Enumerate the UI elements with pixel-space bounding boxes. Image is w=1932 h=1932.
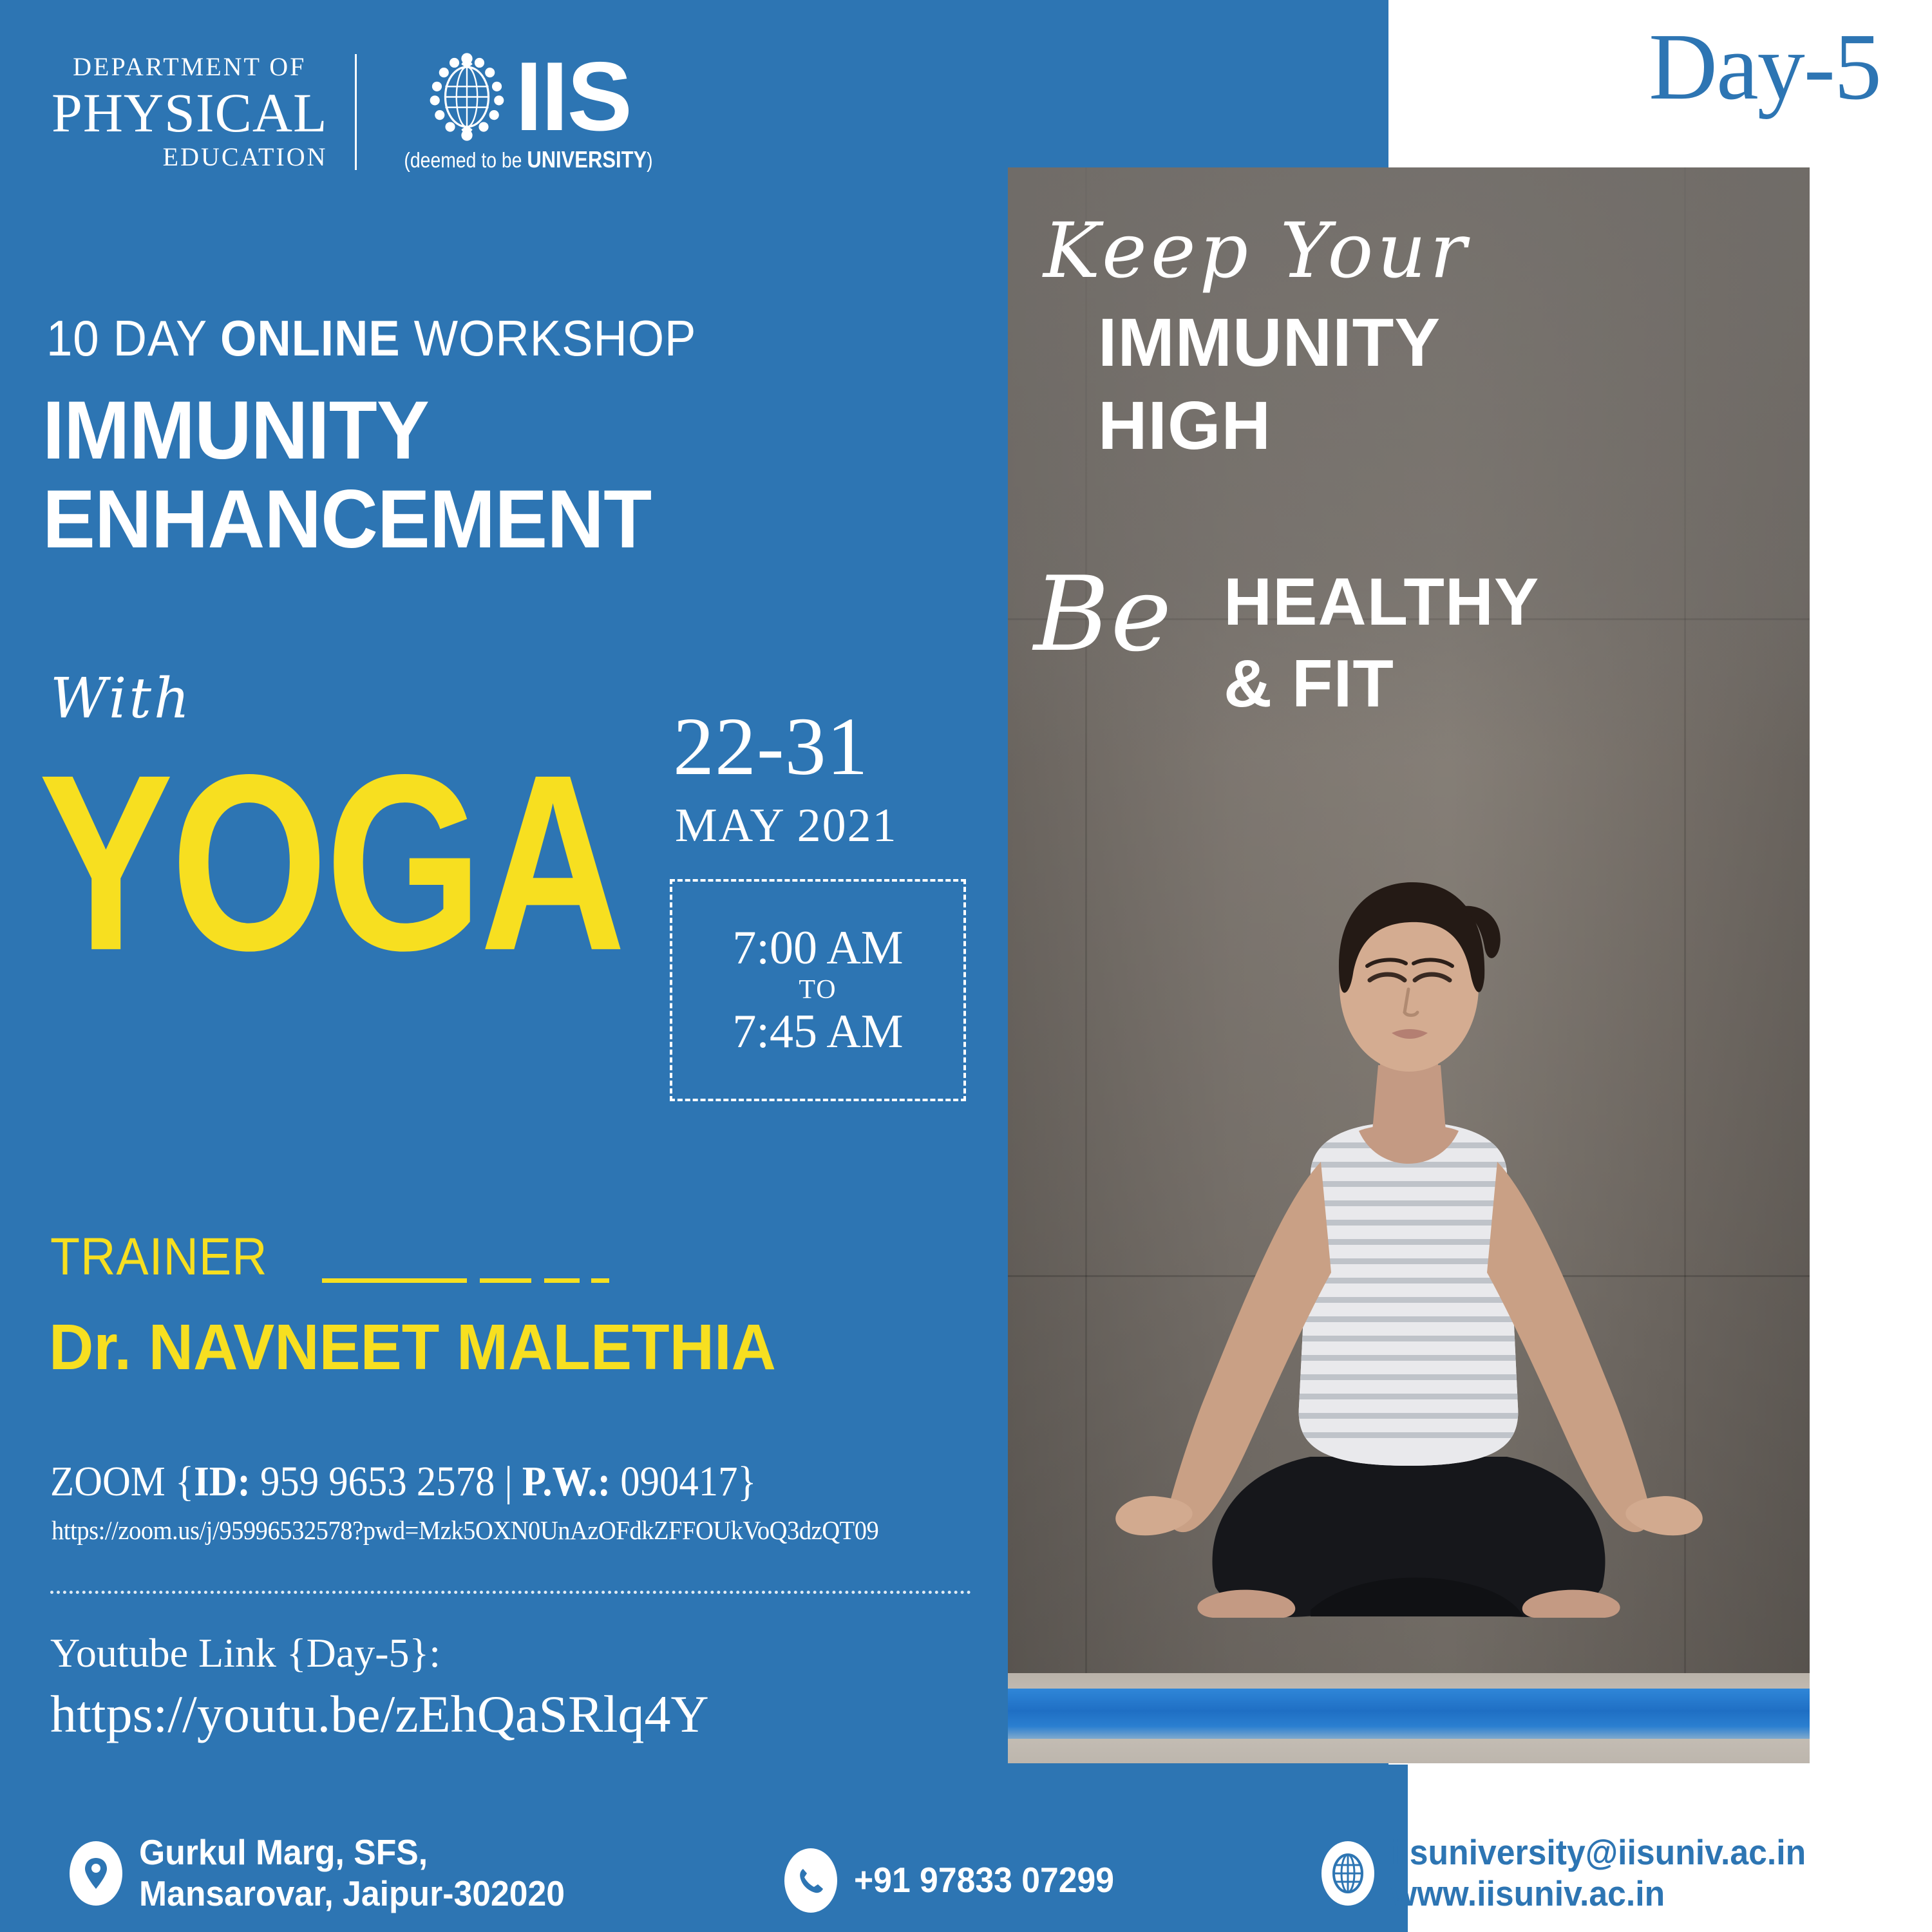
department-line-top: DEPARTMENT OF [52, 54, 328, 80]
iis-sub-university: UNIVERSITY [527, 146, 647, 173]
iis-sub-suffix: ) [647, 148, 652, 172]
overlay-healthy: HEALTHY [1224, 562, 1539, 643]
phone-handset-glyph [796, 1866, 826, 1895]
youtube-label: Youtube Link {Day-5}: [50, 1629, 440, 1677]
trainer-label: TRAINER [50, 1227, 268, 1287]
meditating-woman-figure [1008, 840, 1810, 1696]
trainer-rule-segment [480, 1278, 531, 1283]
globe-icon [1321, 1841, 1374, 1906]
email-text[interactable]: iisuniversity@iisuniv.ac.in [1391, 1832, 1806, 1873]
trainer-name: Dr. NAVNEET MALETHIA [49, 1311, 776, 1385]
location-pin-icon [70, 1841, 122, 1906]
iis-university-logo: IIS (deemed to be UNIVERSITY) [384, 50, 673, 173]
contact-phone: +91 97833 07299 [784, 1848, 1131, 1913]
overlay-high: HIGH [1098, 384, 1441, 468]
section-divider [50, 1591, 971, 1594]
institution-logo: DEPARTMENT OF PHYSICAL EDUCATION [52, 50, 673, 173]
zoom-credentials: ZOOM {ID: 959 9653 2578 | P.W.: 090417} [50, 1457, 757, 1506]
address-line-2: Mansarovar, Jaipur-302020 [139, 1873, 565, 1915]
phone-icon [784, 1848, 837, 1913]
phone-text: +91 97833 07299 [854, 1860, 1114, 1901]
overlay-keep-your: Keep Your [1043, 206, 1470, 295]
page-title: IMMUNITY ENHANCEMENT [43, 386, 651, 564]
globe-glyph [1331, 1853, 1365, 1894]
department-line-bottom: EDUCATION [52, 144, 328, 170]
time-box: 7:00 AM TO 7:45 AM [670, 879, 966, 1101]
day-badge: Day-5 [1649, 19, 1880, 115]
overlay-immunity-high: IMMUNITY HIGH [1098, 301, 1441, 468]
contact-web: iisuniversity@iisuniv.ac.in www.iisuniv.… [1321, 1832, 1832, 1915]
zoom-id-value: 959 9653 2578 [251, 1458, 505, 1505]
web-text: iisuniversity@iisuniv.ac.in www.iisuniv.… [1391, 1832, 1806, 1915]
date-range: 22-31 [673, 705, 869, 788]
headline-line-1: IMMUNITY [43, 386, 651, 475]
zoom-pw-label: P.W.: [522, 1458, 611, 1505]
headline-line-2: ENHANCEMENT [43, 475, 651, 564]
zoom-id-label: ID: [194, 1458, 251, 1505]
department-line-main: PHYSICAL [52, 85, 328, 140]
yoga-photo: Keep Your IMMUNITY HIGH Be HEALTHY & FIT [1008, 167, 1810, 1763]
address-text: Gurkul Marg, SFS, Mansarovar, Jaipur-302… [139, 1832, 565, 1915]
time-to: 7:45 AM [732, 1005, 903, 1059]
iis-sub-prefix: (deemed to be [404, 148, 527, 172]
trainer-rule-segment [591, 1278, 609, 1283]
workshop-kicker: 10 DAY ONLINE WORKSHOP [46, 309, 696, 368]
iis-deemed-subline: (deemed to be UNIVERSITY) [404, 146, 652, 173]
logo-divider [355, 54, 357, 170]
time-from: 7:00 AM [732, 922, 903, 975]
iis-letters: IIS [515, 57, 631, 137]
trainer-rule-segment [322, 1278, 467, 1283]
time-separator: TO [799, 975, 837, 1005]
poster-canvas: Keep Your IMMUNITY HIGH Be HEALTHY & FIT… [0, 0, 1932, 1932]
address-line-1: Gurkul Marg, SFS, [139, 1832, 565, 1873]
kicker-online: ONLINE [220, 310, 401, 366]
overlay-immunity: IMMUNITY [1098, 301, 1441, 384]
website-text[interactable]: www.iisuniv.ac.in [1391, 1873, 1806, 1915]
youtube-link[interactable]: https://youtu.be/zEhQaSRlq4Y [50, 1684, 709, 1745]
date-month-year: MAY 2021 [675, 802, 898, 849]
zoom-pipe: | [504, 1458, 522, 1505]
zoom-pw-value: 090417} [611, 1458, 756, 1505]
zoom-meeting-link[interactable]: https://zoom.us/j/95996532578?pwd=Mzk5OX… [52, 1515, 878, 1546]
kicker-post: WORKSHOP [401, 310, 697, 366]
kicker-pre: 10 DAY [46, 310, 220, 366]
with-label: With [50, 667, 192, 731]
zoom-prefix: ZOOM { [50, 1458, 194, 1505]
overlay-and-fit: & FIT [1224, 643, 1539, 725]
iis-globe-emblem-icon [425, 50, 509, 144]
location-pin-glyph [82, 1855, 110, 1891]
subject-yoga: YOGA [39, 747, 623, 978]
overlay-be: Be [1034, 554, 1173, 674]
iis-logo-row: IIS [425, 50, 631, 144]
department-wordmark: DEPARTMENT OF PHYSICAL EDUCATION [52, 54, 355, 170]
overlay-healthy-fit: HEALTHY & FIT [1224, 562, 1539, 725]
trainer-rule-segment [544, 1278, 580, 1283]
contact-address: Gurkul Marg, SFS, Mansarovar, Jaipur-302… [70, 1832, 592, 1915]
